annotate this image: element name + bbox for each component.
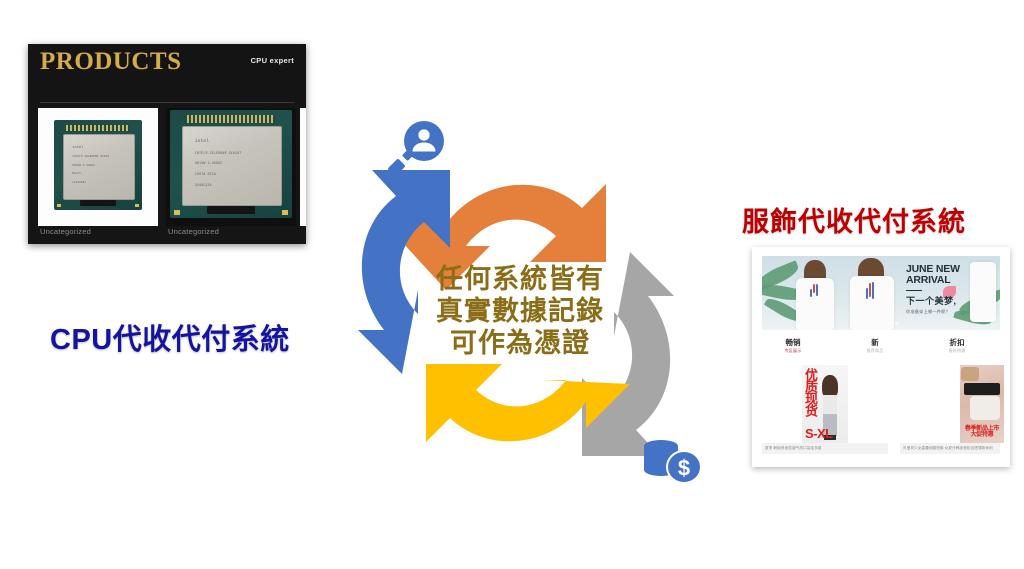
category-label: 新	[852, 339, 898, 347]
magnifier-lens	[404, 121, 444, 161]
category-sublabel: 推荐商品	[852, 349, 898, 353]
gray-arrow-right	[582, 252, 674, 456]
coins-dollar-icon: $	[641, 437, 703, 489]
product-category-label: Uncategorized	[168, 227, 219, 236]
category-item[interactable]: 新 推荐商品	[852, 339, 898, 353]
banner-headline-line2: ARRIVAL	[906, 275, 992, 286]
category-label: 折扣	[934, 339, 980, 347]
product-caption-bar: 可爱风少女高腰阔腿短裤 女夏分韩版宽松百搭薄款休闲	[900, 443, 1000, 454]
product-tile[interactable]	[300, 108, 306, 226]
left-panel: PRODUCTS CPU expert intel INTEL® CELERON…	[28, 44, 306, 244]
apparel-website-screenshot[interactable]: JUNE NEW ARRIVAL 下一个美梦, 你准备穿上哪一件呢? 畅销 专区…	[752, 247, 1010, 467]
category-sublabel: 专区展示	[770, 349, 816, 353]
product-caption: 可爱风少女高腰阔腿短裤 女夏分韩版宽松百搭薄款休闲	[900, 443, 1000, 451]
banner-divider	[906, 290, 922, 292]
banner-subtitle-small: 你准备穿上哪一件呢?	[906, 309, 992, 315]
product-tile[interactable]: intel INTEL® CELERON® G1610 SR10W 2.30GH…	[38, 108, 158, 226]
product-size-text: S-XL	[805, 426, 833, 441]
magnifier-handle	[388, 158, 406, 176]
product-card[interactable]: 春季新品上市 大促特惠	[960, 365, 1004, 443]
category-sublabel: 限时特惠	[934, 349, 980, 353]
promo-banner[interactable]: JUNE NEW ARRIVAL 下一个美梦, 你准备穿上哪一件呢?	[762, 256, 1000, 330]
dollar-symbol: $	[678, 456, 690, 481]
cpu-chip-image: intel INTEL® CELERON® G1610T SR10W 2.30G…	[170, 110, 292, 218]
category-item[interactable]: 畅销 专区展示	[770, 339, 816, 353]
product-tile[interactable]: intel INTEL® CELERON® G1610T SR10W 2.30G…	[166, 108, 296, 226]
category-item[interactable]: 折扣 限时特惠	[934, 339, 980, 353]
dollar-coin: $	[666, 450, 702, 484]
banner-text-block: JUNE NEW ARRIVAL 下一个美梦, 你准备穿上哪一件呢?	[906, 264, 992, 315]
product-category-label: Uncategorized	[40, 227, 91, 236]
category-row: 畅销 专区展示 新 推荐商品 折扣 限时特惠	[762, 339, 1000, 361]
cpu-expert-tagline: CPU expert	[251, 56, 294, 65]
product-promo-vertical-text: 优质现货	[804, 368, 817, 422]
product-card[interactable]: 优质现货 S-XL	[802, 365, 848, 443]
product-caption: 夏季 韩版修身显瘦气质口袋连衣裙	[762, 443, 888, 451]
products-heading: PRODUCTS	[40, 49, 182, 74]
user-search-icon	[388, 120, 446, 182]
cpu-chip-image: intel INTEL® CELERON® G1610 SR10W 2.30GH…	[54, 120, 142, 210]
slide-canvas: PRODUCTS CPU expert intel INTEL® CELERON…	[0, 0, 1024, 569]
category-label: 畅销	[770, 339, 816, 347]
banner-subtitle-zh: 下一个美梦,	[906, 294, 992, 307]
product-overlay-text: 春季新品上市 大促特惠	[962, 426, 1002, 439]
product-caption-bar: 夏季 韩版修身显瘦气质口袋连衣裙	[762, 443, 888, 454]
caption-cpu-system: CPU代收代付系統	[50, 316, 350, 358]
caption-apparel-system: 服飾代收代付系統	[742, 200, 1024, 239]
cpu-website-screenshot[interactable]: PRODUCTS CPU expert intel INTEL® CELERON…	[28, 44, 306, 244]
header-divider	[40, 102, 294, 103]
